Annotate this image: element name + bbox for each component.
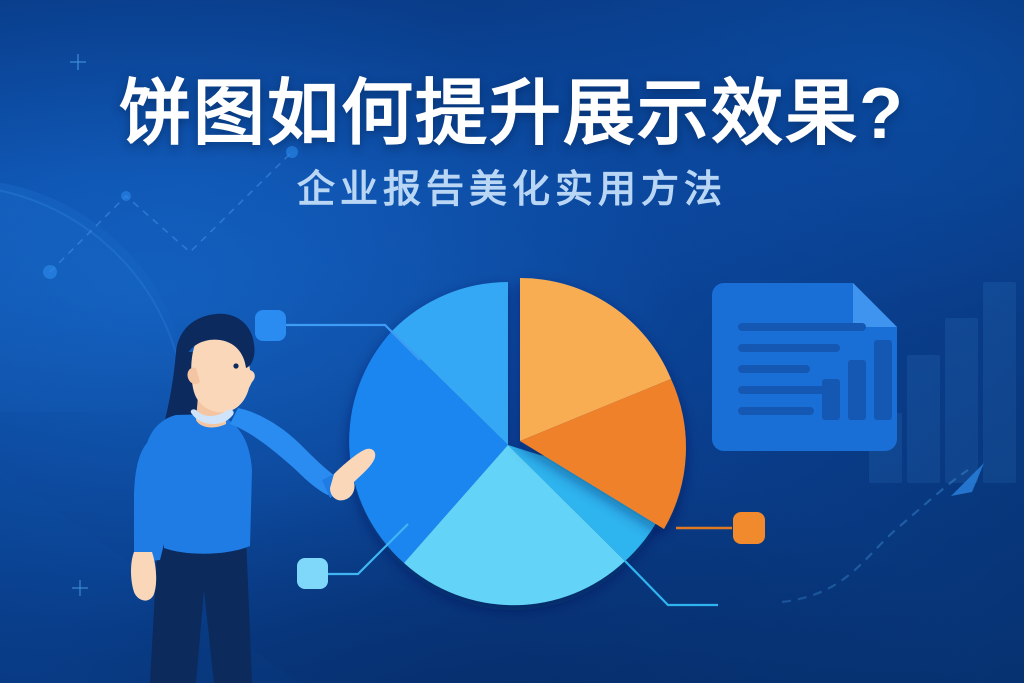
poster-canvas: 饼图如何提升展示效果? 企业报告美化实用方法	[0, 0, 1024, 683]
page-subtitle: 企业报告美化实用方法	[0, 170, 1024, 212]
woman-eye	[233, 363, 238, 368]
page-title: 饼图如何提升展示效果?	[0, 76, 1024, 152]
title-block: 饼图如何提升展示效果? 企业报告美化实用方法	[0, 76, 1024, 212]
woman-hand-left	[131, 552, 156, 601]
woman-pants	[150, 536, 252, 683]
woman-hand-pointing	[330, 449, 375, 501]
